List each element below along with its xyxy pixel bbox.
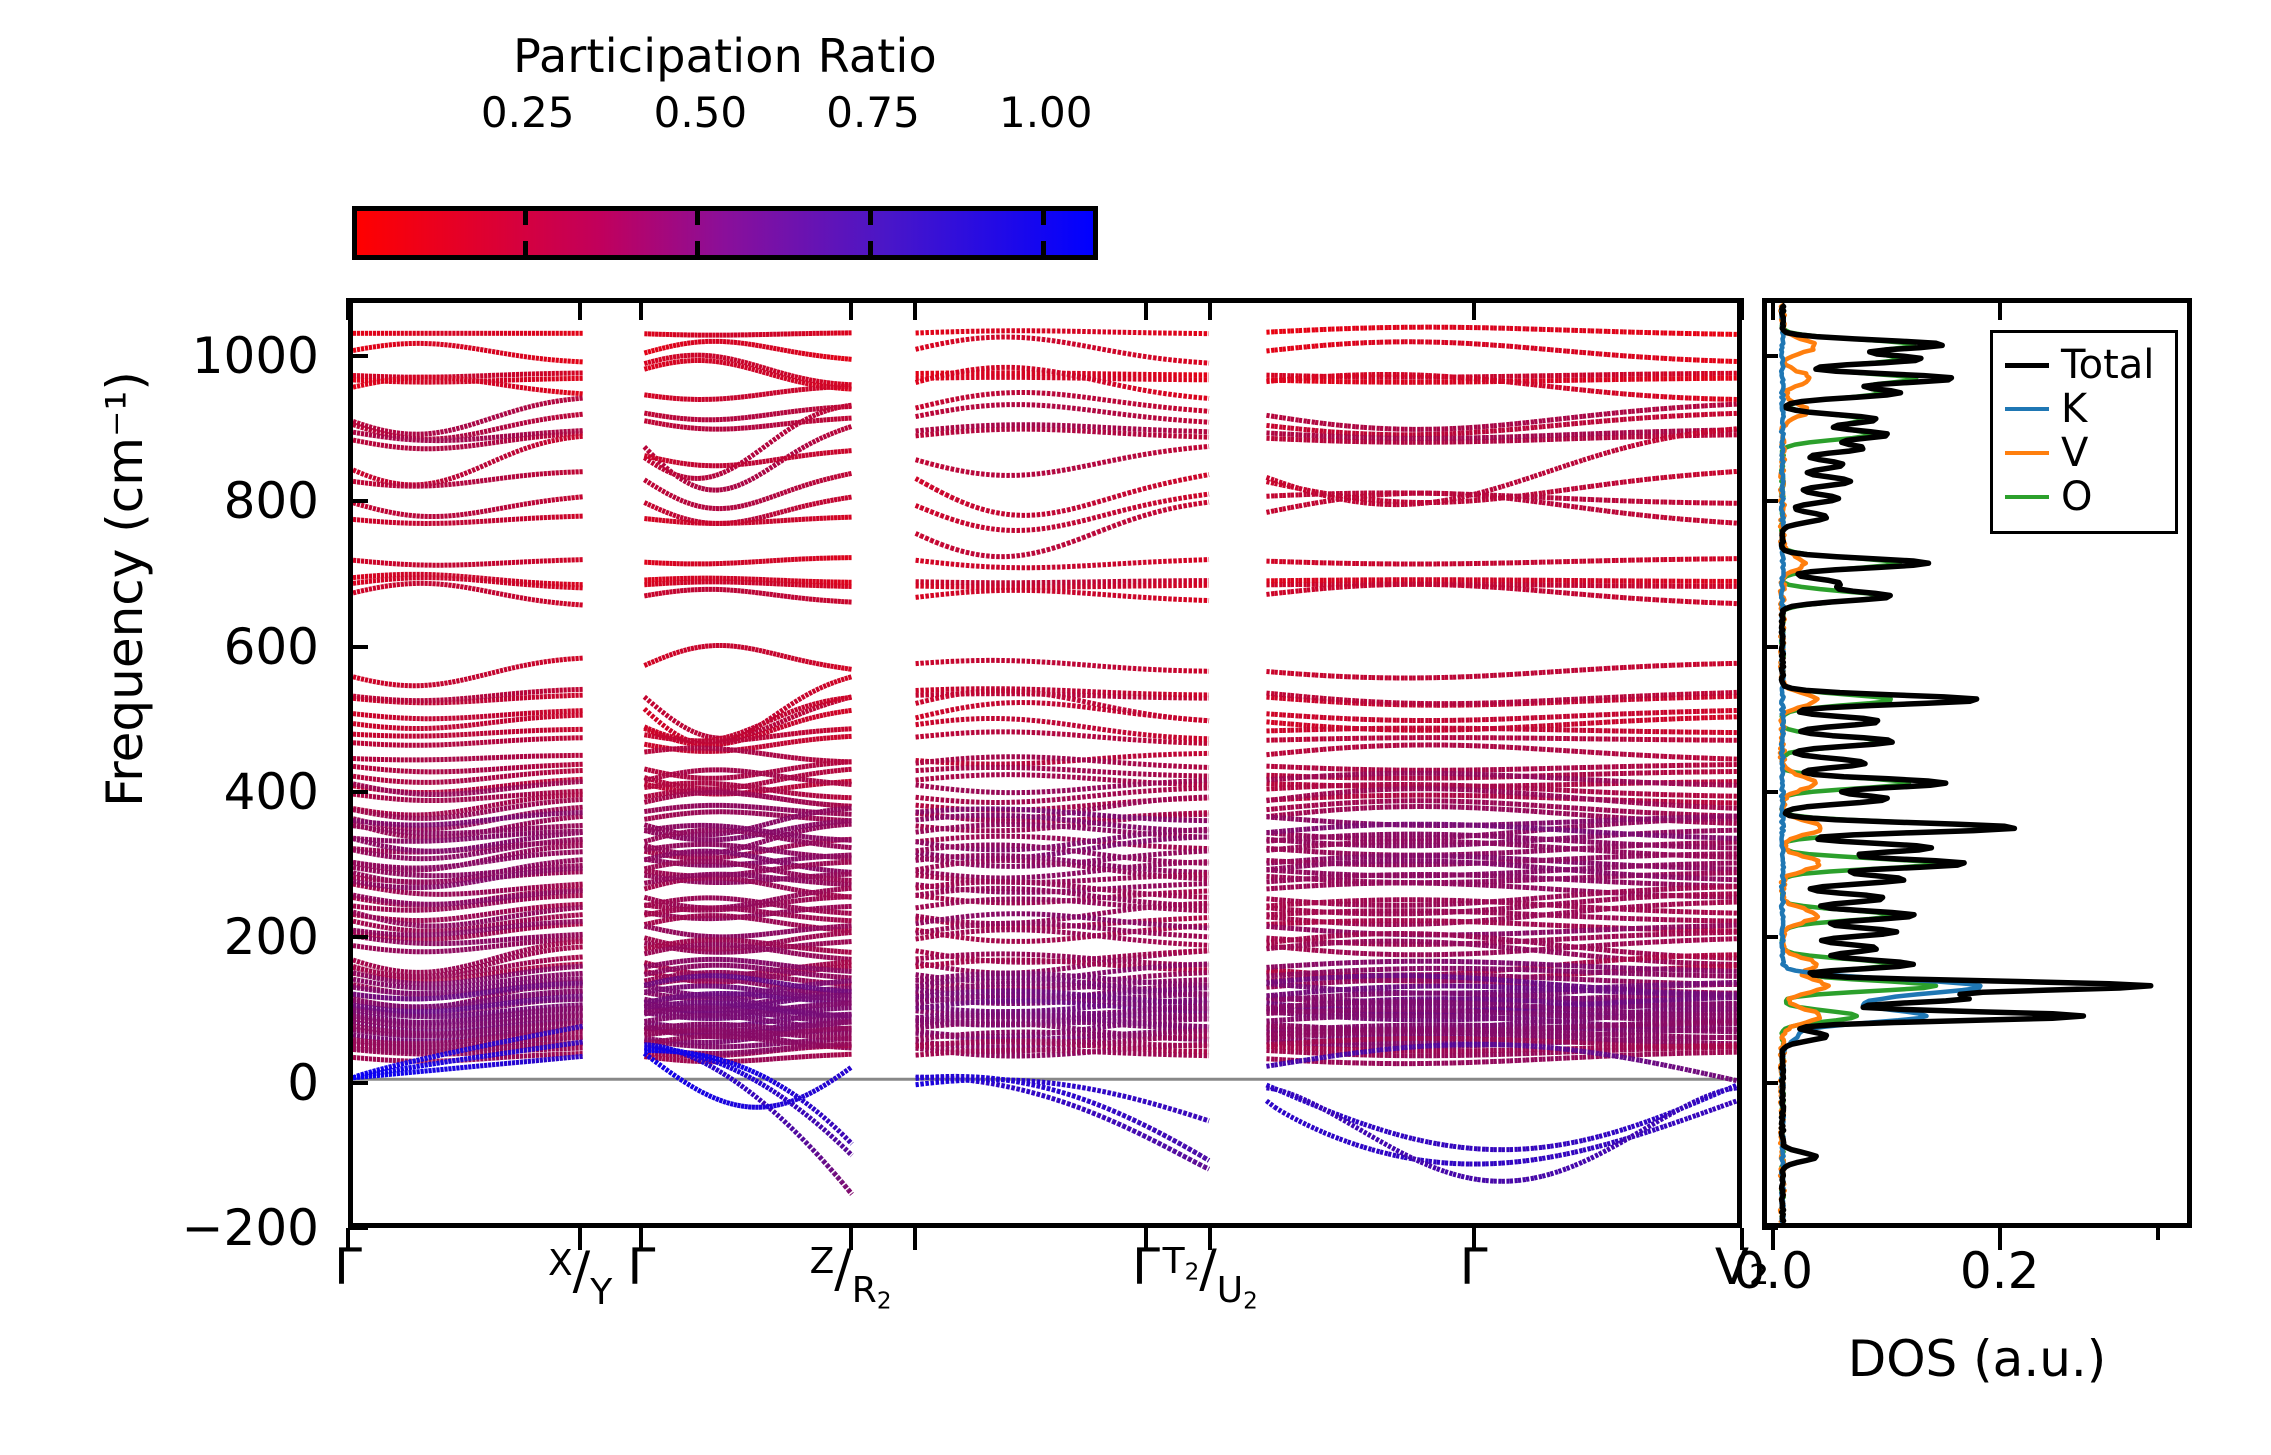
- band-line: [795, 488, 799, 489]
- band-line: [365, 506, 369, 507]
- band-line: [1729, 429, 1737, 430]
- band-line: [1083, 397, 1088, 398]
- band-line: [488, 418, 492, 419]
- band-line: [745, 481, 749, 483]
- band-line: [1331, 432, 1339, 433]
- band-line: [1083, 346, 1088, 347]
- band-line: [795, 659, 799, 660]
- band-line: [357, 433, 361, 434]
- band-line: [361, 385, 365, 386]
- band-line: [752, 477, 756, 479]
- band-line: [1323, 588, 1331, 589]
- band-line: [1128, 508, 1133, 509]
- band-line: [532, 445, 536, 446]
- band-line: [464, 347, 468, 348]
- band-line: [762, 722, 766, 724]
- band-line: [1315, 502, 1323, 503]
- band-line: [1093, 380, 1098, 381]
- band-line: [1072, 540, 1077, 542]
- band-line: [536, 444, 540, 445]
- band-line: [986, 704, 991, 705]
- band-line: [512, 596, 516, 597]
- band-line: [520, 666, 524, 667]
- band-line: [1037, 529, 1042, 530]
- band-line: [512, 411, 516, 412]
- band-line: [752, 369, 756, 370]
- band-line: [1331, 344, 1339, 345]
- band-line: [991, 512, 996, 513]
- band-line: [659, 593, 663, 594]
- colorbar-tick: [523, 241, 528, 255]
- band-line: [841, 711, 845, 712]
- band-line: [1291, 673, 1299, 674]
- band-line: [1072, 522, 1077, 523]
- band-line: [813, 690, 817, 692]
- band-line: [981, 474, 986, 475]
- band-line: [1062, 543, 1067, 545]
- band-line: [788, 712, 792, 713]
- band-line: [834, 408, 838, 409]
- band-line: [655, 349, 659, 350]
- band-line: [353, 350, 357, 351]
- band-line: [1323, 500, 1331, 501]
- band-line: [504, 455, 508, 457]
- band-line: [921, 481, 926, 484]
- band-line: [1275, 380, 1283, 381]
- band-line: [1632, 356, 1640, 357]
- band-line: [1108, 460, 1113, 461]
- band-line: [651, 366, 655, 367]
- band-line: [436, 432, 440, 433]
- band-line: [1179, 479, 1184, 480]
- band-line: [500, 508, 504, 509]
- band-line: [1067, 542, 1072, 544]
- band-line: [1680, 475, 1688, 476]
- band-line: [1575, 460, 1583, 463]
- band-line: [540, 443, 544, 444]
- band-line: [1148, 503, 1153, 504]
- band-line: [759, 650, 763, 651]
- band-line: [1461, 501, 1469, 502]
- band-line: [773, 438, 777, 441]
- band-line: [795, 377, 799, 378]
- band-line: [788, 457, 792, 458]
- band-line: [1550, 671, 1558, 672]
- band-line: [568, 438, 572, 439]
- band-line: [830, 666, 834, 667]
- band-line: [456, 428, 460, 429]
- band-line: [460, 680, 464, 681]
- band-line: [791, 658, 795, 659]
- band-line: [1550, 468, 1558, 471]
- band-line: [524, 598, 528, 599]
- band-line: [926, 484, 931, 487]
- band-line: [1266, 511, 1274, 513]
- band-line: [755, 451, 759, 454]
- band-line: [1017, 555, 1022, 556]
- band-line: [1123, 353, 1128, 354]
- band-line: [452, 585, 456, 586]
- band-line: [389, 380, 393, 381]
- band-line: [1542, 349, 1550, 350]
- band-line: [805, 661, 809, 662]
- band-line: [921, 435, 926, 436]
- band-line: [464, 426, 468, 427]
- band-line: [1534, 673, 1542, 674]
- band-line: [648, 662, 652, 664]
- band-line: [1364, 496, 1372, 497]
- band-line: [1623, 513, 1631, 514]
- band-line: [752, 519, 756, 520]
- band-line: [1331, 587, 1339, 588]
- band-line: [1575, 416, 1583, 417]
- band-line: [723, 737, 727, 738]
- band-line: [1534, 501, 1542, 502]
- band-line: [1072, 344, 1077, 345]
- band-line: [1174, 507, 1179, 508]
- band-line: [816, 439, 820, 441]
- band-line: [361, 348, 365, 349]
- band-line: [1502, 424, 1510, 425]
- band-line: [1067, 374, 1072, 375]
- band-line: [488, 510, 492, 511]
- band-line: [780, 511, 784, 512]
- band-line: [1632, 480, 1640, 481]
- band-line: [1098, 462, 1103, 463]
- band-line: [961, 408, 966, 409]
- band-line: [655, 659, 659, 660]
- band-line: [780, 721, 784, 723]
- band-line: [809, 662, 813, 663]
- band-line: [698, 506, 702, 507]
- band-line: [500, 670, 504, 671]
- band-line: [809, 705, 813, 706]
- band-line: [971, 396, 976, 397]
- band-line: [1559, 671, 1567, 672]
- band-line: [361, 473, 365, 475]
- band-line: [520, 423, 524, 424]
- band-line: [719, 362, 723, 363]
- band-line: [813, 415, 817, 417]
- band-line: [773, 371, 777, 372]
- band-line: [1184, 396, 1189, 397]
- band-line: [848, 497, 852, 498]
- band-line: [716, 474, 720, 475]
- band-line: [1169, 450, 1174, 451]
- band-line: [1534, 590, 1542, 591]
- band-line: [373, 478, 377, 479]
- band-line: [369, 430, 373, 431]
- band-line: [1088, 518, 1093, 519]
- band-line: [369, 443, 373, 444]
- band-line: [702, 507, 706, 508]
- band-line: [1042, 550, 1047, 551]
- band-line: [1103, 499, 1108, 500]
- band-line: [1283, 698, 1291, 699]
- band-line: [971, 369, 976, 370]
- band-line: [389, 585, 393, 586]
- band-line: [1453, 497, 1461, 499]
- band-line: [813, 441, 817, 443]
- band-line: [1047, 340, 1052, 341]
- band-line: [472, 445, 476, 446]
- band-line: [460, 587, 464, 588]
- band-line: [1266, 415, 1274, 416]
- band-line: [716, 356, 720, 357]
- band-line: [1113, 524, 1118, 526]
- band-line: [770, 348, 774, 349]
- band-line: [830, 477, 834, 478]
- band-line: [1148, 486, 1153, 487]
- band-line: [365, 680, 369, 681]
- band-line: [544, 419, 548, 420]
- band-line: [788, 375, 792, 376]
- band-line: [1098, 530, 1103, 532]
- figure-canvas: Participation Ratio 0.250.500.751.00 −20…: [0, 0, 2271, 1455]
- band-line: [516, 597, 520, 598]
- band-line: [981, 394, 986, 395]
- band-line: [1388, 501, 1396, 502]
- band-line: [1372, 495, 1380, 496]
- band-line: [540, 404, 544, 405]
- band-line: [1098, 399, 1103, 400]
- band-line: [748, 456, 752, 458]
- band-line: [1607, 420, 1615, 421]
- band-line: [369, 681, 373, 682]
- band-line: [357, 472, 361, 474]
- band-line: [1128, 403, 1133, 404]
- band-line: [484, 419, 488, 420]
- band-line: [1123, 414, 1128, 415]
- band-line: [1485, 345, 1493, 346]
- band-line: [1672, 436, 1680, 437]
- band-line: [1113, 351, 1118, 352]
- band-line: [687, 503, 691, 504]
- band-line: [1615, 512, 1623, 513]
- band-line: [1599, 596, 1607, 597]
- band-line: [472, 589, 476, 590]
- band-line: [788, 428, 792, 430]
- band-line: [1307, 589, 1315, 590]
- band-line: [1143, 405, 1148, 406]
- band-line: [1550, 419, 1558, 420]
- band-line: [1623, 446, 1631, 448]
- band-line: [971, 473, 976, 474]
- band-line: [1615, 597, 1623, 598]
- band-line: [381, 586, 385, 587]
- band-line: [460, 436, 464, 437]
- band-line: [931, 595, 936, 596]
- band-line: [1204, 494, 1209, 495]
- band-line: [734, 360, 738, 361]
- band-line: [669, 425, 673, 426]
- band-line: [468, 678, 472, 679]
- band-line: [1713, 473, 1721, 474]
- band-line: [1648, 516, 1656, 517]
- band-line: [777, 376, 781, 377]
- band-line: [385, 683, 389, 684]
- band-line: [956, 499, 961, 501]
- band-line: [1615, 412, 1623, 413]
- band-line: [1615, 419, 1623, 420]
- band-line: [780, 433, 784, 435]
- band-line: [773, 718, 777, 720]
- band-line: [1323, 698, 1331, 699]
- band-line: [1022, 554, 1027, 555]
- band-line: [759, 734, 763, 735]
- band-line: [648, 456, 652, 457]
- band-line: [476, 512, 480, 513]
- band-line: [1088, 707, 1093, 708]
- band-line: [1315, 698, 1323, 699]
- band-line: [1729, 471, 1737, 472]
- band-line: [1640, 357, 1648, 358]
- band-line: [809, 483, 813, 484]
- band-line: [1664, 477, 1672, 478]
- band-line: [1067, 469, 1072, 470]
- band-line: [476, 467, 480, 469]
- band-line: [1339, 587, 1347, 588]
- band-line: [966, 472, 971, 473]
- band-line: [820, 705, 824, 706]
- band-line: [1696, 432, 1704, 433]
- band-line: [1494, 487, 1502, 489]
- band-line: [1128, 492, 1133, 493]
- band-line: [941, 594, 946, 595]
- band-line: [1542, 672, 1550, 673]
- band-line: [666, 727, 670, 730]
- band-line: [516, 409, 520, 410]
- band-line: [393, 432, 397, 433]
- band-line: [484, 674, 488, 675]
- band-line: [365, 425, 369, 426]
- band-line: [956, 371, 961, 372]
- band-line: [719, 473, 723, 474]
- band-line: [737, 484, 741, 485]
- band-line: [1632, 418, 1640, 419]
- band-line: [524, 388, 528, 389]
- band-line: [1559, 424, 1567, 425]
- band-line: [456, 475, 460, 476]
- band-line: [805, 379, 809, 380]
- band-line: [1083, 377, 1088, 378]
- band-line: [1148, 357, 1153, 358]
- band-line: [1072, 396, 1077, 397]
- band-line: [669, 513, 673, 514]
- band-line: [727, 736, 731, 737]
- band-line: [552, 440, 556, 441]
- band-line: [548, 661, 552, 662]
- band-line: [936, 412, 941, 413]
- band-line: [1042, 339, 1047, 340]
- band-line: [702, 488, 706, 489]
- band-line: [830, 682, 834, 683]
- band-line: [452, 429, 456, 430]
- band-line: [1299, 505, 1307, 506]
- band-line: [1199, 495, 1204, 496]
- band-line: [1607, 450, 1615, 452]
- band-line: [1283, 592, 1291, 593]
- band-line: [961, 340, 966, 341]
- band-line: [752, 453, 756, 456]
- band-line: [802, 707, 806, 708]
- band-line: [1093, 708, 1098, 709]
- band-line: [1331, 499, 1339, 500]
- band-line: [662, 724, 666, 727]
- band-line: [1143, 417, 1148, 418]
- band-line: [476, 349, 480, 350]
- band-line: [389, 432, 393, 433]
- band-line: [1648, 409, 1656, 410]
- band-line: [456, 586, 460, 587]
- band-line: [1526, 476, 1534, 479]
- band-line: [651, 414, 655, 415]
- band-line: [766, 347, 770, 348]
- band-line: [680, 725, 684, 727]
- band-line: [745, 730, 749, 731]
- band-line: [921, 415, 926, 416]
- band-line: [1640, 395, 1648, 396]
- band-line: [1118, 458, 1123, 459]
- band-line: [784, 350, 788, 351]
- band-line: [1518, 383, 1526, 384]
- band-line: [838, 680, 842, 681]
- band-line: [1083, 707, 1088, 708]
- band-line: [436, 481, 440, 482]
- colorbar-tick-label: 0.25: [481, 88, 575, 137]
- band-line: [492, 383, 496, 384]
- colorbar-tick: [1041, 211, 1046, 225]
- band-line: [791, 380, 795, 381]
- band-line: [1623, 419, 1631, 420]
- band-line: [802, 660, 806, 661]
- band-line: [834, 712, 838, 713]
- band-line: [1583, 422, 1591, 423]
- band-line: [353, 583, 357, 584]
- band-line: [1088, 503, 1093, 504]
- band-line: [1153, 418, 1158, 419]
- band-line: [1143, 514, 1148, 516]
- band-line: [1138, 389, 1143, 390]
- band-line: [1356, 502, 1364, 503]
- band-line: [741, 735, 745, 737]
- band-line: [777, 459, 781, 460]
- band-line: [1364, 503, 1372, 504]
- band-line: [755, 501, 759, 502]
- band-line: [365, 384, 369, 385]
- band-line: [1169, 482, 1174, 483]
- colorbar-tick: [695, 241, 700, 255]
- band-line: [504, 507, 508, 508]
- band-line: [823, 479, 827, 480]
- band-line: [1067, 408, 1072, 409]
- band-line: [1133, 490, 1138, 491]
- band-line: [1494, 587, 1502, 588]
- band-line: [1680, 519, 1688, 520]
- band-line: [1721, 522, 1729, 523]
- band-line: [357, 591, 361, 592]
- band-line: [788, 718, 792, 720]
- band-line: [1158, 484, 1163, 485]
- band-line: [759, 346, 763, 347]
- band-line: [1275, 349, 1283, 350]
- band-line: [1042, 370, 1047, 371]
- band-line: [755, 650, 759, 651]
- band-line: [369, 435, 373, 436]
- band-line: [691, 484, 695, 486]
- band-line: [655, 458, 659, 459]
- band-line: [456, 436, 460, 437]
